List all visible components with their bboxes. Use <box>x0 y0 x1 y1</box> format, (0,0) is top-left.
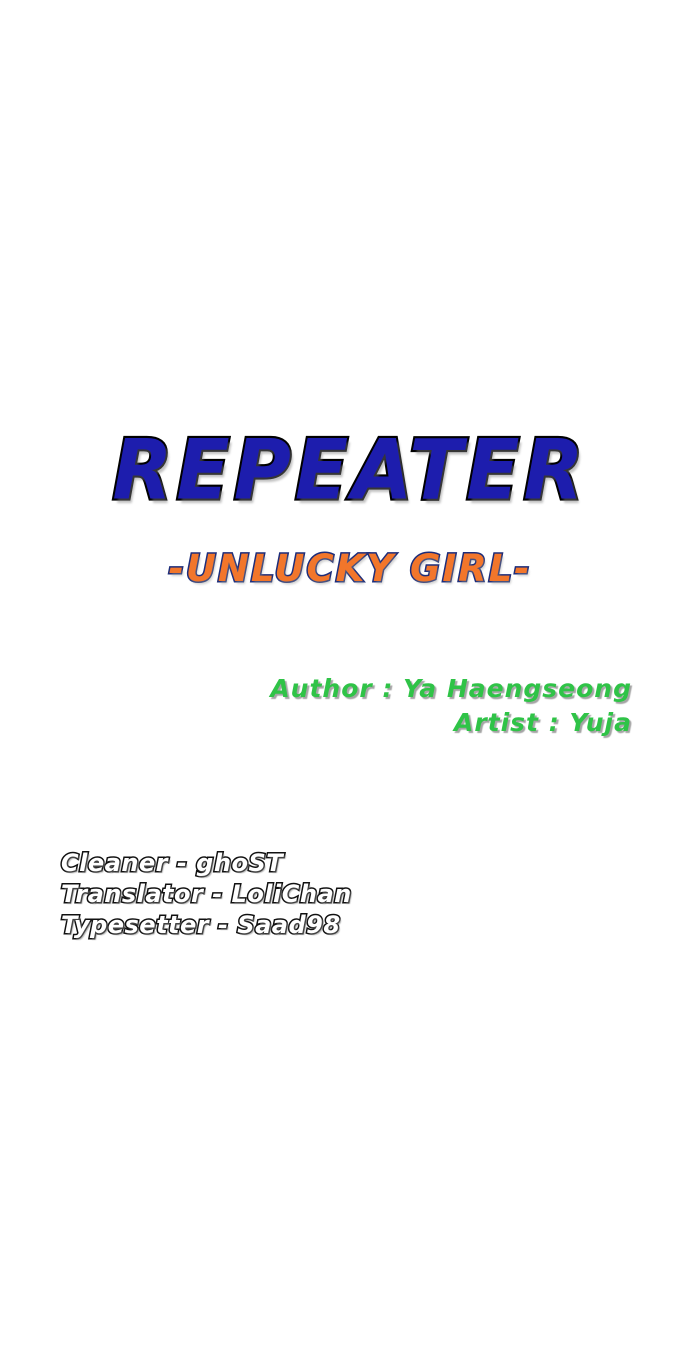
staff-credit-cleaner: Cleaner - ghoST <box>61 848 352 879</box>
subtitle-block: -UNLUCKY GIRL- <box>0 550 700 587</box>
staff-credit-translator: Translator - LoliChan <box>61 879 352 910</box>
author-credits-block: Author : Ya Haengseong Artist : Yuja <box>0 672 700 740</box>
page-subtitle: -UNLUCKY GIRL- <box>168 550 531 587</box>
title-block: REPEATER <box>0 432 700 510</box>
artist-credit-line: Artist : Yuja <box>0 706 632 740</box>
author-credit-line: Author : Ya Haengseong <box>0 672 632 706</box>
scanlation-staff-block: Cleaner - ghoST Translator - LoliChan Ty… <box>61 848 352 941</box>
staff-credit-typesetter: Typesetter - Saad98 <box>61 910 352 941</box>
webtoon-title-page: REPEATER -UNLUCKY GIRL- Author : Ya Haen… <box>0 0 700 1361</box>
page-title: REPEATER <box>112 430 587 513</box>
